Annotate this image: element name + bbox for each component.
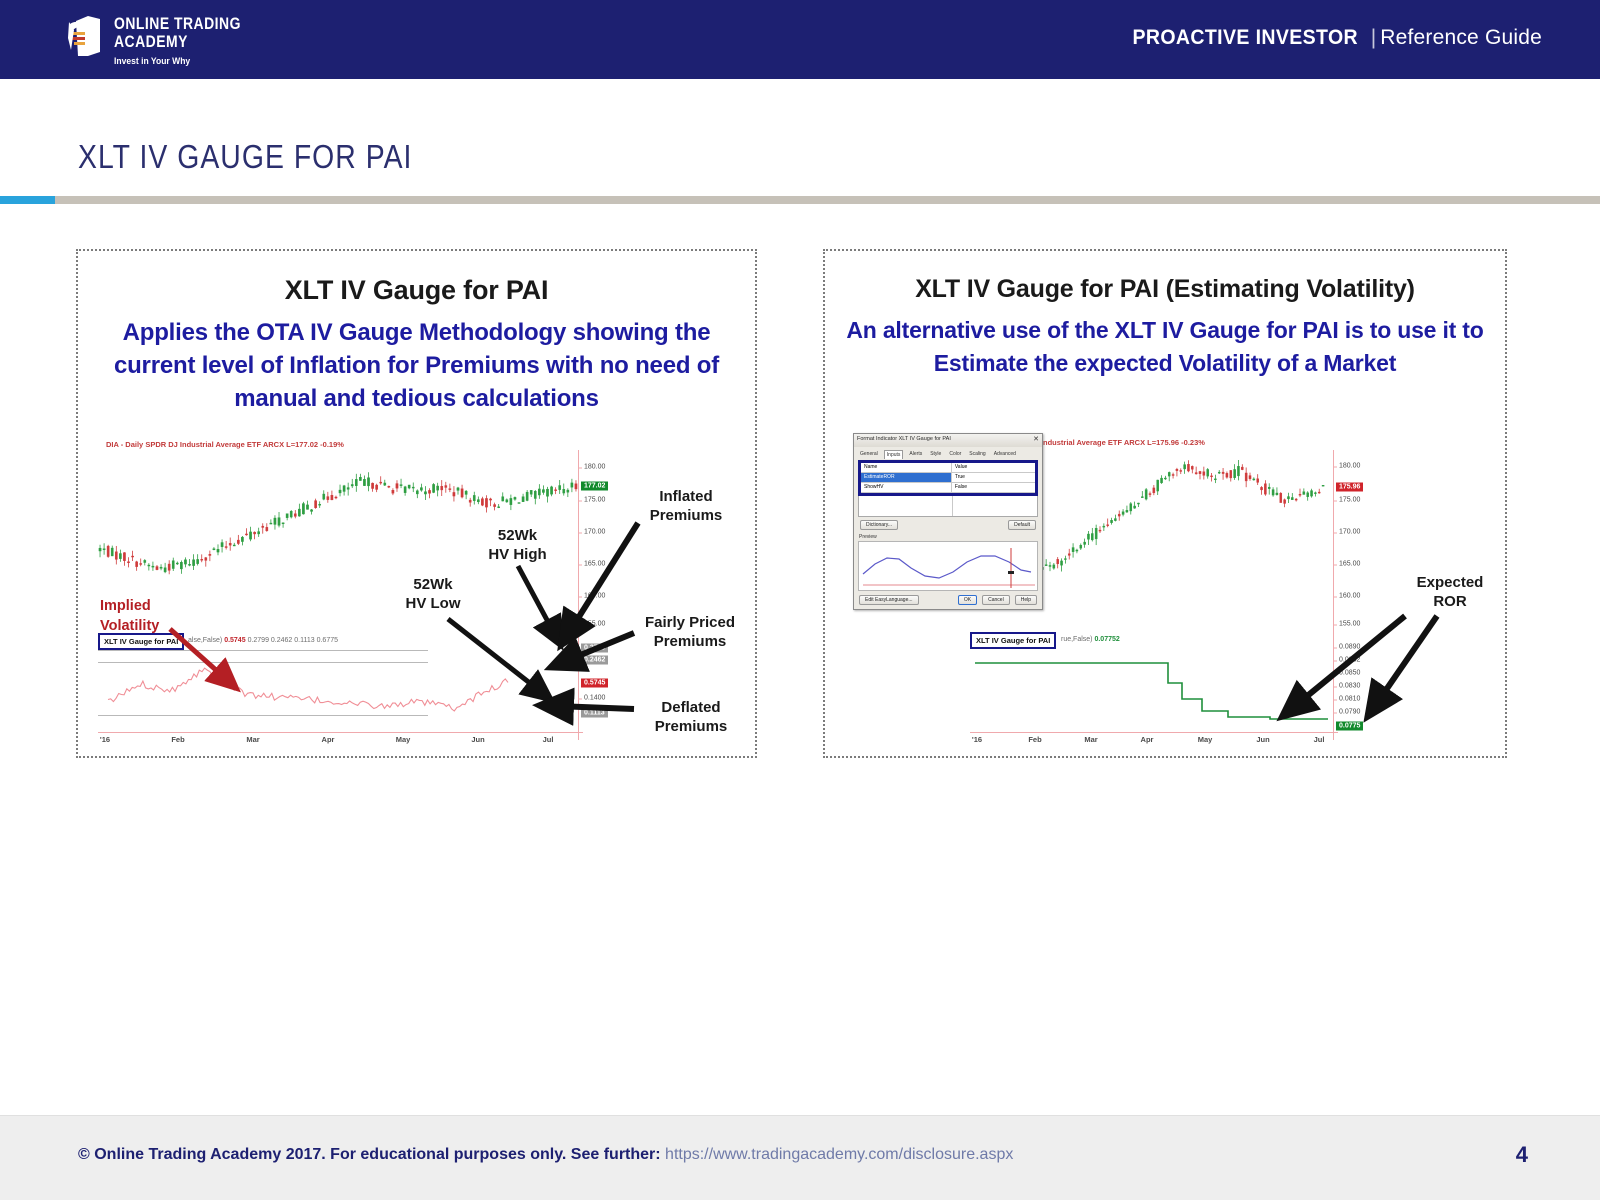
logo-line-1: ONLINE TRADING (114, 15, 241, 33)
tab-color[interactable]: Color (947, 450, 963, 459)
left-axis-tick-165: 165.00 (584, 561, 605, 568)
table-row[interactable]: ShowHV False (861, 483, 1035, 493)
annotation-expected-ror: Expected ROR (1395, 573, 1505, 611)
dialog-titlebar: Format Indicator XLT IV Gauge for PAI ✕ (854, 434, 1042, 447)
right-axis-tick-180: 180.00 (1339, 463, 1360, 470)
left-price-axis (578, 450, 579, 740)
table-row[interactable]: EstimateROR True (861, 473, 1035, 483)
right-ind-tick-0850: 0.0850 (1339, 670, 1360, 677)
left-indicator-primary-value: 0.5745 (224, 637, 245, 644)
tab-general[interactable]: General (858, 450, 880, 459)
left-x-tick-0: '16 (100, 735, 110, 744)
cancel-button[interactable]: Cancel (982, 595, 1010, 605)
right-candlestick-series (1025, 452, 1325, 632)
left-x-tick-6: Jul (543, 735, 554, 744)
annotation-implied-volatility: Implied Volatility (100, 596, 159, 636)
left-ind-tick-2799: 0.2799 (581, 644, 608, 653)
right-panel-title: XLT IV Gauge for PAI (Estimating Volatil… (825, 275, 1505, 304)
left-axis-tick-160: 160.00 (584, 593, 605, 600)
left-indicator-values-prefix: alse,False) (188, 637, 222, 644)
right-x-axis (970, 732, 1338, 733)
format-indicator-dialog[interactable]: Format Indicator XLT IV Gauge for PAI ✕ … (853, 433, 1043, 610)
right-x-tick-2: Mar (1084, 735, 1097, 744)
right-ind-tick-0890: 0.0890 (1339, 644, 1360, 651)
dialog-footer-buttons: Edit EasyLanguage... OK Cancel Help (854, 591, 1042, 609)
annotation-deflated-line2: Premiums (631, 717, 751, 736)
annotation-inflated-line1: Inflated (631, 487, 741, 506)
left-chart-header: DIA - Daily SPDR DJ Industrial Average E… (106, 440, 344, 449)
logo-line-2: ACADEMY (114, 33, 241, 51)
right-panel-subtitle: An alternative use of the XLT IV Gauge f… (825, 314, 1505, 380)
help-button[interactable]: Help (1015, 595, 1037, 605)
left-x-tick-3: Apr (322, 735, 335, 744)
right-ind-tick-0790: 0.0790 (1339, 709, 1360, 716)
dialog-inputs-grid[interactable]: Name Value EstimateROR True ShowHV False (858, 460, 1038, 496)
left-axis-tick-175: 175.00 (584, 497, 605, 504)
annotation-implied-volatility-line1: Implied (100, 596, 159, 616)
left-panel-title: XLT IV Gauge for PAI (78, 275, 755, 306)
tab-inputs[interactable]: Inputs (884, 450, 904, 459)
preview-label: Preview (854, 530, 1042, 541)
left-ind-tick-2462: 0.2462 (581, 656, 608, 665)
left-ind-marker-5745: 0.5745 (581, 679, 608, 688)
dictionary-button[interactable]: Dictionary... (860, 520, 898, 530)
header-doc-type: Reference Guide (1380, 26, 1542, 49)
left-x-tick-4: May (396, 735, 411, 744)
page-header: ONLINE TRADING ACADEMY Invest in Your Wh… (0, 0, 1600, 79)
disclosure-link[interactable]: https://www.tradingacademy.com/disclosur… (665, 1146, 1013, 1163)
tab-style[interactable]: Style (928, 450, 943, 459)
right-x-tick-4: May (1198, 735, 1213, 744)
grid-row-1-value[interactable]: False (952, 483, 1035, 492)
close-icon[interactable]: ✕ (1033, 435, 1039, 443)
annotation-fairly-line1: Fairly Priced (625, 613, 755, 632)
annotation-inflated-line2: Premiums (631, 506, 741, 525)
left-panel-subtitle: Applies the OTA IV Gauge Methodology sho… (78, 316, 755, 415)
annotation-deflated-premiums: Deflated Premiums (631, 698, 751, 736)
left-x-tick-1: Feb (171, 735, 184, 744)
left-axis-tick-180: 180.00 (584, 464, 605, 471)
brand-logo: ONLINE TRADING ACADEMY Invest in Your Wh… (58, 12, 269, 67)
grid-header-row: Name Value (861, 463, 1035, 473)
right-ind-tick-0830: 0.0830 (1339, 683, 1360, 690)
page-number: 4 (1516, 1142, 1528, 1168)
annotation-hv-low-line1: 52Wk (388, 575, 478, 594)
right-axis-tick-160: 160.00 (1339, 593, 1360, 600)
dialog-preview-pane (858, 541, 1038, 591)
right-axis-tick-155: 155.00 (1339, 621, 1360, 628)
grid-header-value: Value (952, 463, 1035, 472)
right-ror-step-line (970, 641, 1335, 731)
left-ind-tick-1400: 0.1400 (584, 695, 605, 702)
logo-tagline: Invest in Your Why (114, 56, 253, 67)
annotation-hv-low-line2: HV Low (388, 594, 478, 613)
right-last-price-badge: 175.96 (1336, 483, 1363, 492)
dialog-grid-empty-area (858, 496, 1038, 517)
title-divider (0, 196, 1600, 204)
left-ind-marker-1113: 0.1113 (581, 709, 608, 718)
annotation-hv-high-line2: HV High (470, 545, 565, 564)
page-footer: © Online Trading Academy 2017. For educa… (0, 1115, 1600, 1200)
right-x-tick-1: Feb (1028, 735, 1041, 744)
grid-row-0-value[interactable]: True (952, 473, 1035, 482)
annotation-52wk-hv-low: 52Wk HV Low (388, 575, 478, 613)
header-brand: PROACTIVE INVESTOR (1133, 26, 1359, 50)
right-ind-tick-0882: 0.0882 (1339, 657, 1360, 664)
header-separator: | (1371, 26, 1376, 49)
right-indicator-primary-value: 0.07752 (1094, 636, 1119, 643)
edit-easylanguage-button[interactable]: Edit EasyLanguage... (859, 595, 919, 605)
right-axis-tick-175: 175.00 (1339, 497, 1360, 504)
page-title: XLT IV GAUGE FOR PAI (78, 138, 412, 176)
left-slide-panel: XLT IV Gauge for PAI Applies the OTA IV … (76, 249, 757, 758)
eagle-book-logo-icon (58, 12, 106, 60)
right-indicator-values-prefix: rue,False) (1061, 636, 1093, 643)
left-axis-tick-155: 155.00 (584, 621, 605, 628)
left-indicator-values: alse,False) 0.5745 0.2799 0.2462 0.1113 … (188, 637, 338, 644)
right-axis-tick-165: 165.00 (1339, 561, 1360, 568)
annotation-deflated-line1: Deflated (631, 698, 751, 717)
preview-wave-icon (859, 542, 1037, 590)
annotation-expected-ror-line1: Expected (1395, 573, 1505, 592)
left-iv-line-series (98, 641, 578, 726)
right-x-tick-5: Jun (1256, 735, 1269, 744)
right-x-tick-0: '16 (972, 735, 982, 744)
tab-alerts[interactable]: Alerts (907, 450, 924, 459)
title-divider-accent (0, 196, 55, 204)
annotation-hv-high-line1: 52Wk (470, 526, 565, 545)
right-ind-marker-0775: 0.0775 (1336, 722, 1363, 731)
annotation-implied-volatility-line2: Volatility (100, 616, 159, 636)
left-x-tick-2: Mar (246, 735, 259, 744)
footer-copyright-text: © Online Trading Academy 2017. For educa… (78, 1146, 665, 1163)
right-ror-series-pane (970, 641, 1335, 731)
annotation-inflated-premiums: Inflated Premiums (631, 487, 741, 525)
left-x-tick-5: Jun (471, 735, 484, 744)
header-brand-block: PROACTIVE INVESTOR|Reference Guide (1124, 26, 1542, 50)
left-indicator-other-values: 0.2799 0.2462 0.1113 0.6775 (248, 637, 338, 644)
footer-copyright: © Online Trading Academy 2017. For educa… (78, 1146, 1013, 1164)
grid-row-1-name[interactable]: ShowHV (861, 483, 952, 492)
grid-row-0-name[interactable]: EstimateROR (861, 473, 952, 482)
right-axis-tick-170: 170.00 (1339, 529, 1360, 536)
right-x-tick-6: Jul (1314, 735, 1325, 744)
annotation-fairly-line2: Premiums (625, 632, 755, 651)
right-slide-panel: XLT IV Gauge for PAI (Estimating Volatil… (823, 249, 1507, 758)
ok-button[interactable]: OK (958, 595, 977, 605)
annotation-52wk-hv-high: 52Wk HV High (470, 526, 565, 564)
right-indicator-chip[interactable]: XLT IV Gauge for PAI (970, 632, 1056, 649)
left-axis-tick-170: 170.00 (584, 529, 605, 536)
annotation-expected-ror-line2: ROR (1395, 592, 1505, 611)
right-price-pane (1025, 452, 1325, 632)
left-last-price-badge: 177.02 (581, 482, 608, 491)
dialog-tabs[interactable]: General Inputs Alerts Style Color Scalin… (854, 447, 1042, 459)
default-button[interactable]: Default (1008, 520, 1036, 530)
tab-scaling[interactable]: Scaling (967, 450, 987, 459)
dialog-title: Format Indicator XLT IV Gauge for PAI (857, 436, 951, 442)
right-indicator-values: rue,False) 0.07752 (1061, 636, 1120, 643)
right-x-tick-3: Apr (1141, 735, 1154, 744)
right-ind-tick-0810: 0.0810 (1339, 696, 1360, 703)
grid-header-name: Name (861, 463, 952, 472)
annotation-fairly-priced-premiums: Fairly Priced Premiums (625, 613, 755, 651)
tab-advanced[interactable]: Advanced (992, 450, 1018, 459)
dialog-grid-buttons: Dictionary... Default (854, 517, 1042, 530)
left-x-axis (98, 732, 583, 733)
left-iv-series-pane (98, 641, 578, 726)
